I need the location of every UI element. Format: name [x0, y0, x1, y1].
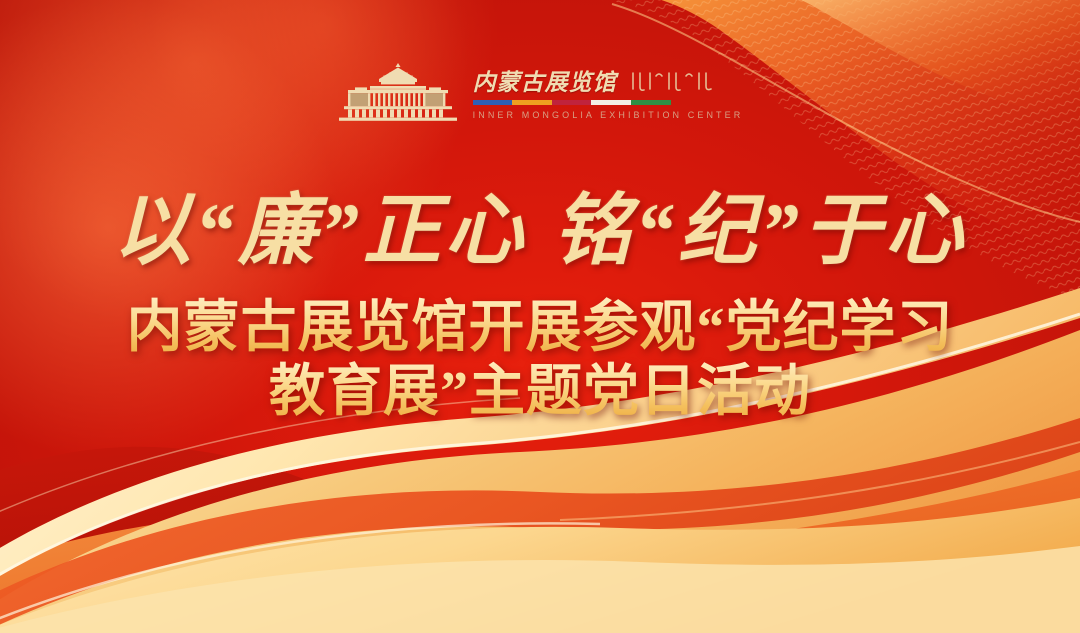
logo-name-cn: 内蒙古展览馆 [473, 70, 617, 95]
logo-bar-green [631, 100, 671, 105]
logo-bar-orange [512, 100, 552, 105]
subtitle-line-2: 教育展”主题党日活动 [0, 360, 1080, 424]
logo-name-en: INNER MONGOLIA EXHIBITION CENTER [473, 110, 744, 120]
headline-part-2: 铭“纪”于心 [553, 187, 967, 274]
logo-bar-red [552, 100, 592, 105]
subtitle-line-1: 内蒙古展览馆开展参观“党纪学习 [0, 296, 1080, 360]
logo-bar-blue [473, 100, 513, 105]
mongolian-script-icon [629, 69, 723, 95]
organization-logo: 内蒙古展览馆 [0, 62, 1080, 124]
subtitle-block: 内蒙古展览馆开展参观“党纪学习 教育展”主题党日活动 [0, 296, 1080, 424]
poster-banner: 内蒙古展览馆 [0, 0, 1080, 633]
headline-block: 以“廉”正心铭“纪”于心 [0, 188, 1080, 274]
logo-bar-white [591, 100, 631, 105]
logo-text-block: 内蒙古展览馆 [473, 62, 744, 120]
logo-color-bars [473, 100, 671, 105]
headline-part-1: 以“廉”正心 [113, 187, 527, 274]
logo-name-row: 内蒙古展览馆 [473, 65, 744, 95]
exhibition-hall-building-icon [337, 62, 459, 124]
headline-main-title: 以“廉”正心铭“纪”于心 [0, 188, 1080, 274]
